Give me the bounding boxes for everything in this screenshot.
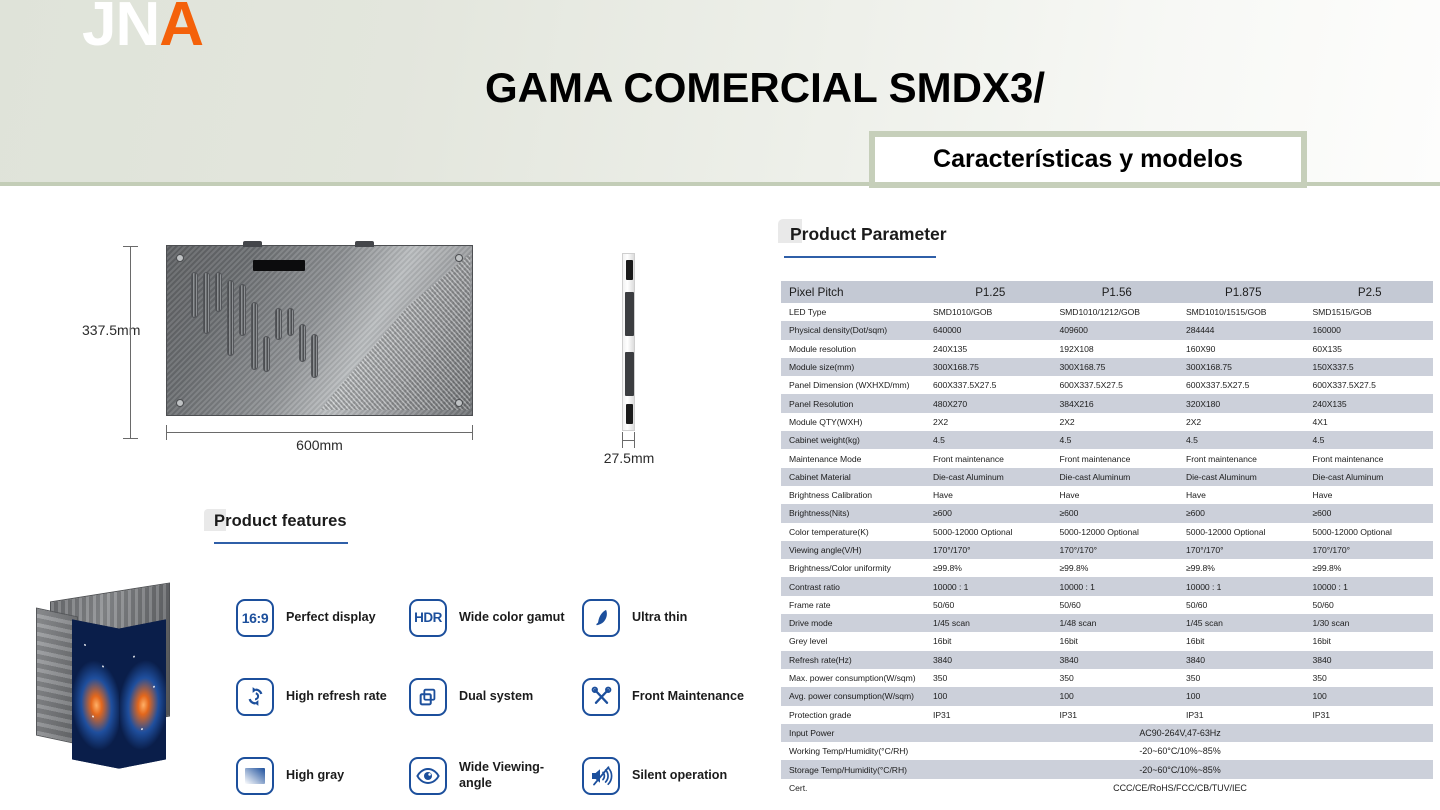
table-cell: 3840 bbox=[1054, 651, 1181, 669]
screw-icon bbox=[176, 399, 184, 407]
row-label: Viewing angle(V/H) bbox=[781, 541, 927, 559]
feature-label: Ultra thin bbox=[632, 610, 687, 625]
table-row: Contrast ratio10000 : 110000 : 110000 : … bbox=[781, 577, 1433, 595]
table-row: Drive mode1/45 scan1/48 scan1/45 scan1/3… bbox=[781, 614, 1433, 632]
table-cell: Die-cast Aluminum bbox=[927, 468, 1054, 486]
table-cell: 480X270 bbox=[927, 394, 1054, 412]
table-cell-merged: CCC/CE/RoHS/FCC/CB/TUV/IEC bbox=[927, 779, 1433, 797]
table-cell: 170°/170° bbox=[927, 541, 1054, 559]
table-cell: 350 bbox=[927, 669, 1054, 687]
table-cell: 170°/170° bbox=[1180, 541, 1307, 559]
table-cell: 2X2 bbox=[927, 413, 1054, 431]
table-cell: 600X337.5X27.5 bbox=[1180, 376, 1307, 394]
feature-row: High refresh rate Dual system Front Main… bbox=[236, 657, 756, 736]
table-cell: 16bit bbox=[927, 632, 1054, 650]
table-cell: 600X337.5X27.5 bbox=[1054, 376, 1181, 394]
table-cell: Front maintenance bbox=[1180, 449, 1307, 467]
row-label: Module QTY(WXH) bbox=[781, 413, 927, 431]
aspect-ratio-16-9-icon: 16:9 bbox=[236, 599, 274, 637]
feature-item: High refresh rate bbox=[236, 657, 409, 736]
table-row: Maintenance ModeFront maintenanceFront m… bbox=[781, 449, 1433, 467]
dimension-depth-label: 27.5mm bbox=[592, 450, 666, 466]
row-label: Maintenance Mode bbox=[781, 449, 927, 467]
table-row-merged: Storage Temp/Humidity(°C/RH)-20~60°C/10%… bbox=[781, 760, 1433, 778]
product-features-heading: Product features bbox=[214, 512, 347, 530]
row-label: Working Temp/Humidity(°C/RH) bbox=[781, 742, 927, 760]
table-cell: 50/60 bbox=[927, 596, 1054, 614]
dimension-height-line bbox=[130, 246, 131, 439]
table-cell: Die-cast Aluminum bbox=[1307, 468, 1434, 486]
table-row: Max. power consumption(W/sqm)35035035035… bbox=[781, 669, 1433, 687]
table-row: Module size(mm)300X168.75300X168.75300X1… bbox=[781, 358, 1433, 376]
table-cell: Have bbox=[1054, 486, 1181, 504]
table-cell: 100 bbox=[1054, 687, 1181, 705]
icon-glyph-text: HDR bbox=[414, 610, 442, 625]
dimension-height-label: 337.5mm bbox=[82, 322, 140, 338]
vent-slot bbox=[251, 302, 258, 370]
row-label: Avg. power consumption(W/sqm) bbox=[781, 687, 927, 705]
table-cell: Front maintenance bbox=[927, 449, 1054, 467]
logo-text-white: JN bbox=[82, 0, 159, 59]
led-screen-left bbox=[72, 619, 119, 768]
table-cell: Have bbox=[1307, 486, 1434, 504]
table-cell: 409600 bbox=[1054, 321, 1181, 339]
table-cell: 320X180 bbox=[1180, 394, 1307, 412]
vent-slot bbox=[239, 284, 246, 336]
table-cell: 640000 bbox=[927, 321, 1054, 339]
dual-windows-icon bbox=[409, 678, 447, 716]
vent-slot bbox=[191, 272, 198, 318]
column-header-p125: P1.25 bbox=[927, 281, 1054, 303]
row-label: Brightness Calibration bbox=[781, 486, 927, 504]
product-features-heading-wrap: Product features bbox=[214, 512, 347, 531]
row-label: Max. power consumption(W/sqm) bbox=[781, 669, 927, 687]
table-cell-merged: AC90-264V,47-63Hz bbox=[927, 724, 1433, 742]
feature-item: High gray bbox=[236, 736, 409, 810]
table-row: Brightness/Color uniformity≥99.8%≥99.8%≥… bbox=[781, 559, 1433, 577]
table-cell: 5000-12000 Optional bbox=[1054, 523, 1181, 541]
table-cell: IP31 bbox=[1054, 706, 1181, 724]
feature-label: Wide Viewing-angle bbox=[459, 760, 571, 791]
column-header-p1875: P1.875 bbox=[1180, 281, 1307, 303]
table-cell: 1/30 scan bbox=[1307, 614, 1434, 632]
row-label: Storage Temp/Humidity(°C/RH) bbox=[781, 760, 927, 778]
table-cell: 350 bbox=[1180, 669, 1307, 687]
table-cell: 50/60 bbox=[1054, 596, 1181, 614]
vent-slot bbox=[275, 308, 282, 340]
table-row: Module QTY(WXH)2X22X22X24X1 bbox=[781, 413, 1433, 431]
feature-item: HDR Wide color gamut bbox=[409, 578, 582, 657]
table-cell: 16bit bbox=[1180, 632, 1307, 650]
table-row: Protection gradeIP31IP31IP31IP31 bbox=[781, 706, 1433, 724]
dimension-depth-line bbox=[622, 440, 635, 441]
table-cell: 300X168.75 bbox=[1054, 358, 1181, 376]
row-label: Brightness(Nits) bbox=[781, 504, 927, 522]
table-cell: 4.5 bbox=[1054, 431, 1181, 449]
table-cell: 3840 bbox=[1180, 651, 1307, 669]
tools-wrench-screwdriver-icon bbox=[582, 678, 620, 716]
vent-slot bbox=[227, 280, 234, 356]
row-label: Panel Resolution bbox=[781, 394, 927, 412]
vent-slot bbox=[215, 272, 222, 312]
table-row: Color temperature(K)5000-12000 Optional5… bbox=[781, 523, 1433, 541]
refresh-arrows-icon bbox=[236, 678, 274, 716]
table-cell: 3840 bbox=[927, 651, 1054, 669]
row-label: Module resolution bbox=[781, 340, 927, 358]
column-header-pixel-pitch: Pixel Pitch bbox=[781, 281, 927, 303]
table-cell: ≥99.8% bbox=[1307, 559, 1434, 577]
column-header-p156: P1.56 bbox=[1054, 281, 1181, 303]
table-row-merged: Cert.CCC/CE/RoHS/FCC/CB/TUV/IEC bbox=[781, 779, 1433, 797]
table-cell: 100 bbox=[927, 687, 1054, 705]
table-cell: Front maintenance bbox=[1054, 449, 1181, 467]
panel-handle-left-icon bbox=[243, 241, 262, 247]
feature-item: Dual system bbox=[409, 657, 582, 736]
vent-slot bbox=[263, 336, 270, 372]
led-cabinet-photo bbox=[18, 578, 194, 790]
row-label: Input Power bbox=[781, 724, 927, 742]
vent-slot bbox=[299, 324, 306, 362]
table-cell: 50/60 bbox=[1307, 596, 1434, 614]
table-cell: 240X135 bbox=[927, 340, 1054, 358]
table-cell: 5000-12000 Optional bbox=[1307, 523, 1434, 541]
table-cell: 2X2 bbox=[1180, 413, 1307, 431]
dimension-width-line bbox=[166, 432, 473, 433]
row-label: Cabinet Material bbox=[781, 468, 927, 486]
feature-label: Dual system bbox=[459, 689, 533, 704]
table-cell: SMD1515/GOB bbox=[1307, 303, 1434, 321]
row-label: Protection grade bbox=[781, 706, 927, 724]
slide-page: JNA GAMA COMERCIAL SMDX3/ Característica… bbox=[0, 0, 1440, 810]
feature-label: Wide color gamut bbox=[459, 610, 565, 625]
table-cell: IP31 bbox=[927, 706, 1054, 724]
table-cell: 4.5 bbox=[1180, 431, 1307, 449]
table-row: Brightness(Nits)≥600≥600≥600≥600 bbox=[781, 504, 1433, 522]
table-cell: 160000 bbox=[1307, 321, 1434, 339]
table-cell: 600X337.5X27.5 bbox=[927, 376, 1054, 394]
table-cell: ≥99.8% bbox=[1180, 559, 1307, 577]
table-row: Frame rate50/6050/6050/6050/60 bbox=[781, 596, 1433, 614]
subtitle-box: Características y modelos bbox=[869, 131, 1307, 188]
row-label: Panel Dimension (WXHXD/mm) bbox=[781, 376, 927, 394]
table-cell: 100 bbox=[1307, 687, 1434, 705]
mute-speaker-icon bbox=[582, 757, 620, 795]
row-label: Cabinet weight(kg) bbox=[781, 431, 927, 449]
product-parameter-heading: Product Parameter bbox=[790, 224, 947, 244]
table-cell: 16bit bbox=[1307, 632, 1434, 650]
table-cell: Have bbox=[927, 486, 1054, 504]
table-row: Viewing angle(V/H)170°/170°170°/170°170°… bbox=[781, 541, 1433, 559]
feature-row: High gray Wide Viewing-angle Silent oper… bbox=[236, 736, 756, 810]
row-label: Grey level bbox=[781, 632, 927, 650]
table-cell: 350 bbox=[1307, 669, 1434, 687]
table-body: LED TypeSMD1010/GOBSMD1010/1212/GOBSMD10… bbox=[781, 303, 1433, 797]
table-row: Panel Resolution480X270384X216320X180240… bbox=[781, 394, 1433, 412]
product-features-grid: 16:9 Perfect display HDR Wide color gamu… bbox=[236, 578, 756, 810]
hdr-icon: HDR bbox=[409, 599, 447, 637]
table-cell: Front maintenance bbox=[1307, 449, 1434, 467]
table-cell-merged: -20~60°C/10%~85% bbox=[927, 742, 1433, 760]
table-row: Refresh rate(Hz)3840384038403840 bbox=[781, 651, 1433, 669]
row-label: Contrast ratio bbox=[781, 577, 927, 595]
table-cell: 4X1 bbox=[1307, 413, 1434, 431]
table-row-merged: Working Temp/Humidity(°C/RH)-20~60°C/10%… bbox=[781, 742, 1433, 760]
table-cell: 240X135 bbox=[1307, 394, 1434, 412]
logo-text-accent: A bbox=[159, 0, 203, 59]
brand-logo: JNA bbox=[82, 0, 203, 56]
table-cell: 10000 : 1 bbox=[927, 577, 1054, 595]
table-cell: SMD1010/1515/GOB bbox=[1180, 303, 1307, 321]
table-row: Panel Dimension (WXHXD/mm)600X337.5X27.5… bbox=[781, 376, 1433, 394]
table-cell: 10000 : 1 bbox=[1054, 577, 1181, 595]
table-header-row: Pixel Pitch P1.25 P1.56 P1.875 P2.5 bbox=[781, 281, 1433, 303]
feature-item: Wide Viewing-angle bbox=[409, 736, 582, 810]
product-parameter-heading-wrap: Product Parameter bbox=[790, 224, 947, 245]
table-cell: 60X135 bbox=[1307, 340, 1434, 358]
table-cell: 3840 bbox=[1307, 651, 1434, 669]
feature-item: Front Maintenance bbox=[582, 657, 755, 736]
table-cell: 4.5 bbox=[1307, 431, 1434, 449]
table-cell: 284444 bbox=[1180, 321, 1307, 339]
table-cell: 350 bbox=[1054, 669, 1181, 687]
page-title: GAMA COMERCIAL SMDX3/ bbox=[485, 64, 1045, 112]
table-cell: 2X2 bbox=[1054, 413, 1181, 431]
feather-ultra-thin-icon bbox=[582, 599, 620, 637]
panel-back-image bbox=[166, 245, 473, 416]
table-cell: 300X168.75 bbox=[927, 358, 1054, 376]
table-row: Grey level16bit16bit16bit16bit bbox=[781, 632, 1433, 650]
eye-icon bbox=[409, 757, 447, 795]
screw-icon bbox=[455, 254, 463, 262]
row-label: LED Type bbox=[781, 303, 927, 321]
screw-icon bbox=[455, 399, 463, 407]
table-cell: IP31 bbox=[1307, 706, 1434, 724]
row-label: Physical density(Dot/sqm) bbox=[781, 321, 927, 339]
table-cell: 1/45 scan bbox=[1180, 614, 1307, 632]
row-label: Module size(mm) bbox=[781, 358, 927, 376]
subtitle-text: Características y modelos bbox=[933, 145, 1243, 174]
table-row: Avg. power consumption(W/sqm)10010010010… bbox=[781, 687, 1433, 705]
side-port-icon bbox=[626, 404, 633, 424]
table-cell: 384X216 bbox=[1054, 394, 1181, 412]
panel-connector-icon bbox=[253, 260, 305, 271]
feature-label: Front Maintenance bbox=[632, 689, 744, 704]
column-header-p25: P2.5 bbox=[1307, 281, 1434, 303]
table-cell: 160X90 bbox=[1180, 340, 1307, 358]
table-cell: 10000 : 1 bbox=[1180, 577, 1307, 595]
table-cell: 5000-12000 Optional bbox=[927, 523, 1054, 541]
table-cell: ≥600 bbox=[1054, 504, 1181, 522]
table-cell: Have bbox=[1180, 486, 1307, 504]
vent-slot bbox=[311, 334, 318, 378]
table-cell: 5000-12000 Optional bbox=[1180, 523, 1307, 541]
table-cell: 1/48 scan bbox=[1054, 614, 1181, 632]
feature-item: Silent operation bbox=[582, 736, 755, 810]
vent-slot bbox=[203, 272, 210, 334]
table-cell: ≥600 bbox=[927, 504, 1054, 522]
side-port-icon bbox=[626, 260, 633, 280]
feature-label: High refresh rate bbox=[286, 689, 387, 704]
table-cell: 300X168.75 bbox=[1180, 358, 1307, 376]
table-cell: 170°/170° bbox=[1054, 541, 1181, 559]
vent-slot bbox=[287, 308, 294, 336]
table-cell-merged: -20~60°C/10%~85% bbox=[927, 760, 1433, 778]
row-label: Frame rate bbox=[781, 596, 927, 614]
table-row: Module resolution240X135192X108160X9060X… bbox=[781, 340, 1433, 358]
row-label: Brightness/Color uniformity bbox=[781, 559, 927, 577]
row-label: Refresh rate(Hz) bbox=[781, 651, 927, 669]
feature-item: 16:9 Perfect display bbox=[236, 578, 409, 657]
product-parameter-table: Pixel Pitch P1.25 P1.56 P1.875 P2.5 LED … bbox=[781, 281, 1433, 797]
feature-row: 16:9 Perfect display HDR Wide color gamu… bbox=[236, 578, 756, 657]
gradient-square-icon bbox=[236, 757, 274, 795]
table-row: Cabinet weight(kg)4.54.54.54.5 bbox=[781, 431, 1433, 449]
table-cell: ≥99.8% bbox=[927, 559, 1054, 577]
table-row: Brightness CalibrationHaveHaveHaveHave bbox=[781, 486, 1433, 504]
table-cell: ≥99.8% bbox=[1054, 559, 1181, 577]
table-cell: 170°/170° bbox=[1307, 541, 1434, 559]
screw-icon bbox=[176, 254, 184, 262]
table-cell: SMD1010/1212/GOB bbox=[1054, 303, 1181, 321]
panel-diagonal-texture bbox=[320, 254, 470, 410]
table-cell: 100 bbox=[1180, 687, 1307, 705]
led-screen-right bbox=[119, 619, 166, 768]
table-row: LED TypeSMD1010/GOBSMD1010/1212/GOBSMD10… bbox=[781, 303, 1433, 321]
table-cell: SMD1010/GOB bbox=[927, 303, 1054, 321]
table-cell: Die-cast Aluminum bbox=[1054, 468, 1181, 486]
row-label: Color temperature(K) bbox=[781, 523, 927, 541]
table-cell: 10000 : 1 bbox=[1307, 577, 1434, 595]
table-cell: 192X108 bbox=[1054, 340, 1181, 358]
product-features-underline bbox=[214, 542, 348, 544]
table-cell: 4.5 bbox=[927, 431, 1054, 449]
panel-handle-right-icon bbox=[355, 241, 374, 247]
product-parameter-underline bbox=[784, 256, 936, 258]
dimension-width-label: 600mm bbox=[166, 437, 473, 453]
feature-label: Silent operation bbox=[632, 768, 727, 783]
feature-item: Ultra thin bbox=[582, 578, 755, 657]
table-cell: 150X337.5 bbox=[1307, 358, 1434, 376]
feature-label: Perfect display bbox=[286, 610, 376, 625]
table-cell: ≥600 bbox=[1180, 504, 1307, 522]
side-block bbox=[625, 352, 634, 396]
table-row-merged: Input PowerAC90-264V,47-63Hz bbox=[781, 724, 1433, 742]
table-cell: ≥600 bbox=[1307, 504, 1434, 522]
table-row: Physical density(Dot/sqm)640000409600284… bbox=[781, 321, 1433, 339]
table-cell: 50/60 bbox=[1180, 596, 1307, 614]
table-cell: 1/45 scan bbox=[927, 614, 1054, 632]
table-header: Pixel Pitch P1.25 P1.56 P1.875 P2.5 bbox=[781, 281, 1433, 303]
table-cell: 16bit bbox=[1054, 632, 1181, 650]
table-row: Cabinet MaterialDie-cast AluminumDie-cas… bbox=[781, 468, 1433, 486]
feature-label: High gray bbox=[286, 768, 344, 783]
row-label: Drive mode bbox=[781, 614, 927, 632]
table-cell: IP31 bbox=[1180, 706, 1307, 724]
panel-side-image bbox=[622, 253, 635, 431]
side-block bbox=[625, 292, 634, 336]
icon-glyph-text: 16:9 bbox=[242, 610, 268, 626]
table-cell: Die-cast Aluminum bbox=[1180, 468, 1307, 486]
row-label: Cert. bbox=[781, 779, 927, 797]
table-cell: 600X337.5X27.5 bbox=[1307, 376, 1434, 394]
